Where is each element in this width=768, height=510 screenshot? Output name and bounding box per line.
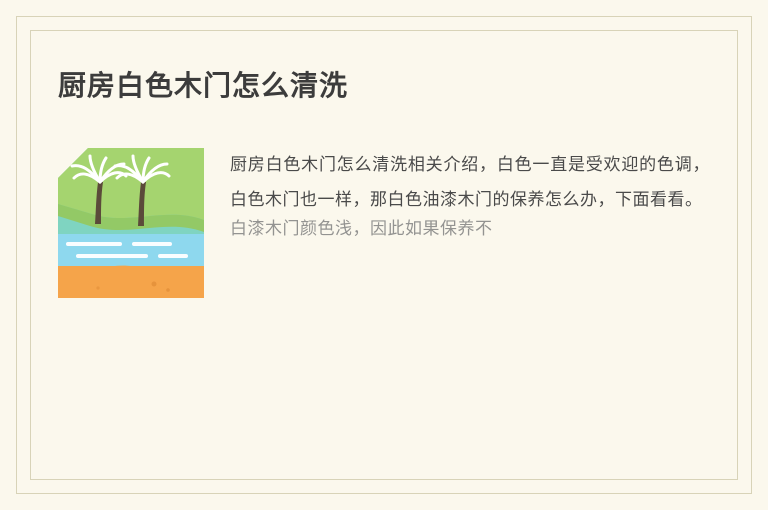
page-title: 厨房白色木门怎么清洗 bbox=[58, 68, 710, 104]
article-text-column: 厨房白色木门怎么清洗相关介绍，白色一直是受欢迎的色调，白色木门也一样，那白色油漆… bbox=[230, 148, 710, 253]
article-body: 厨房白色木门怎么清洗相关介绍，白色一直是受欢迎的色调，白色木门也一样，那白色油漆… bbox=[58, 148, 710, 298]
article-paragraph-2: 白漆木门颜色浅，因此如果保养不 bbox=[230, 212, 710, 247]
document-page: 厨房白色木门怎么清洗 bbox=[0, 0, 768, 510]
article-paragraph-1: 厨房白色木门怎么清洗相关介绍，白色一直是受欢迎的色调，白色木门也一样，那白色油漆… bbox=[230, 148, 710, 218]
document-content: 厨房白色木门怎么清洗 bbox=[58, 58, 710, 452]
beach-palm-tree-illustration bbox=[58, 148, 204, 298]
